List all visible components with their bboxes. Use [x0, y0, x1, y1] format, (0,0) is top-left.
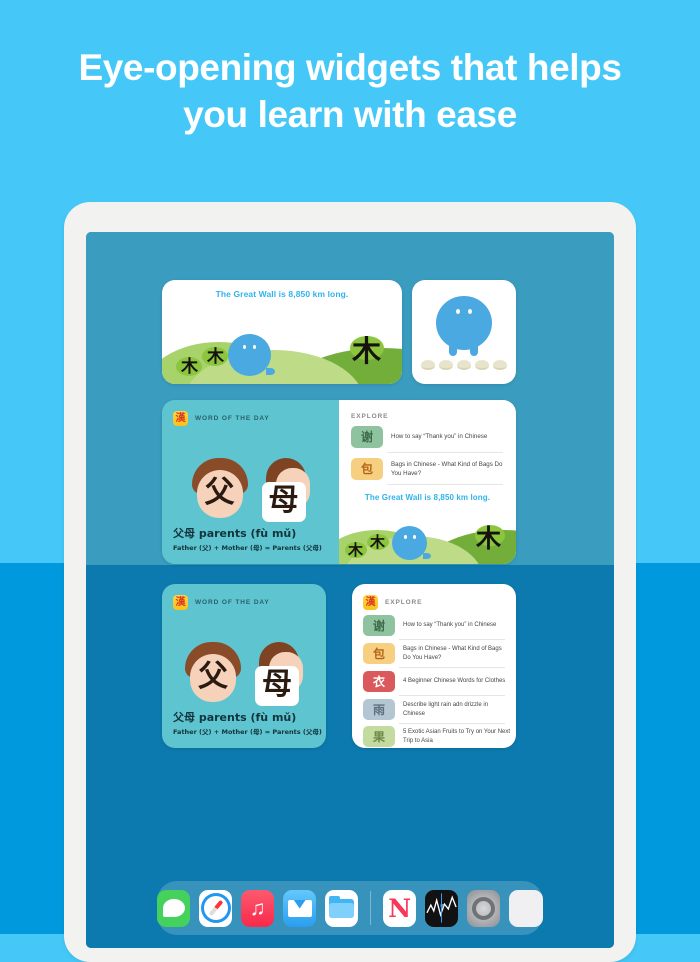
stocks-chart-glyph — [425, 891, 458, 925]
pet-foot-left — [449, 346, 457, 356]
explore-title-1: How to say “Thank you” in Chinese — [391, 432, 487, 441]
explore-thumb-2: 包 — [363, 643, 395, 664]
explore-header: 漢 EXPLORE — [363, 595, 422, 610]
widget-word-of-the-day[interactable]: 漢 WORD OF THE DAY 父 母 父母 parents (fù mǔ)… — [162, 584, 326, 748]
explore-thumb-1: 谢 — [363, 615, 395, 636]
explore-item[interactable]: 衣 4 Beginner Chinese Words for Clothes — [363, 671, 509, 692]
combo-scene-illustration: 木 木 木 — [339, 512, 516, 564]
widget-combo[interactable]: 漢 WORD OF THE DAY 父 母 父母 parents (fù mǔ)… — [162, 400, 516, 564]
word-of-the-day-breakdown: Father (父) + Mother (母) = Parents (父母) — [173, 726, 322, 736]
word-of-the-day-header: 漢 WORD OF THE DAY — [173, 411, 270, 426]
pet-foot-right — [470, 346, 478, 356]
tree-glyph-1: 木 — [181, 359, 198, 376]
combo-explore-pane[interactable]: EXPLORE 谢 How to say “Thank you” in Chin… — [339, 400, 516, 564]
explore-title-5: 5 Exotic Asian Fruits to Try on Your Nex… — [403, 728, 511, 745]
widget-scene-fact[interactable]: The Great Wall is 8,850 km long. 木 木 木 — [162, 280, 402, 384]
word-of-the-day-term: 父母 parents (fù mǔ) — [173, 525, 296, 541]
mother-face: 母 — [260, 458, 310, 520]
widget-explore[interactable]: 漢 EXPLORE 谢 How to say “Thank you” in Ch… — [352, 584, 516, 748]
tablet-device: The Great Wall is 8,850 km long. 木 木 木 — [64, 202, 636, 962]
explore-divider — [387, 452, 503, 453]
word-of-the-day-breakdown: Father (父) + Mother (母) = Parents (父母) — [173, 542, 322, 552]
safari-icon[interactable] — [199, 890, 232, 927]
mother-glyph: 母 — [262, 482, 306, 520]
app-folder-icon[interactable] — [509, 890, 543, 927]
word-of-the-day-term: 父母 parents (fù mǔ) — [173, 709, 296, 725]
mother-face: 母 — [253, 642, 303, 704]
explore-divider — [399, 695, 505, 696]
explore-item[interactable]: 果 5 Exotic Asian Fruits to Try on Your N… — [363, 726, 511, 747]
dock-separator — [370, 891, 371, 925]
blob-character — [228, 334, 271, 376]
father-face: 父 — [192, 458, 250, 520]
explore-divider — [399, 667, 505, 668]
music-icon[interactable]: ♫ — [241, 890, 274, 927]
headline-line-1: Eye-opening widgets that helps — [0, 44, 700, 91]
explore-label: EXPLORE — [351, 413, 388, 420]
parents-illustration: 父 母 — [162, 624, 326, 704]
explore-app-icon: 漢 — [363, 595, 378, 610]
explore-thumb-3: 衣 — [363, 671, 395, 692]
explore-title-4: Describe light rain adn drizzle in Chine… — [403, 701, 509, 718]
stocks-icon[interactable] — [425, 890, 458, 927]
explore-item[interactable]: 谢 How to say “Thank you” in Chinese — [351, 426, 503, 448]
scene-illustration: 木 木 木 — [162, 316, 402, 384]
word-of-the-day-header: 漢 WORD OF THE DAY — [173, 595, 270, 610]
explore-item[interactable]: 包 Bags in Chinese - What Kind of Bags Do… — [351, 458, 503, 480]
pet-body — [436, 296, 492, 350]
dock: ♫ N — [157, 881, 543, 935]
explore-item[interactable]: 包 Bags in Chinese - What Kind of Bags Do… — [363, 643, 509, 664]
scene-caption: The Great Wall is 8,850 km long. — [162, 289, 402, 299]
explore-title-2: Bags in Chinese - What Kind of Bags Do Y… — [403, 645, 509, 662]
headline-line-2: you learn with ease — [0, 91, 700, 138]
explore-thumb-1: 谢 — [351, 426, 383, 448]
father-face: 父 — [185, 642, 243, 704]
explore-title-1: How to say “Thank you” in Chinese — [403, 621, 496, 630]
news-icon[interactable]: N — [383, 890, 416, 927]
explore-thumb-4: 雨 — [363, 699, 395, 720]
combo-tree-3: 木 — [476, 526, 501, 551]
explore-thumb-2: 包 — [351, 458, 383, 480]
tree-glyph-2: 木 — [207, 349, 224, 366]
settings-icon[interactable] — [467, 890, 500, 927]
explore-item[interactable]: 雨 Describe light rain adn drizzle in Chi… — [363, 699, 509, 720]
combo-tree-1: 木 — [348, 543, 363, 558]
explore-item[interactable]: 谢 How to say “Thank you” in Chinese — [363, 615, 509, 636]
explore-divider — [399, 639, 505, 640]
blob-tail — [266, 368, 275, 375]
tree-glyph-3: 木 — [352, 337, 381, 366]
combo-scene-caption: The Great Wall is 8,850 km long. — [339, 493, 516, 502]
tablet-screen: The Great Wall is 8,850 km long. 木 木 木 — [86, 232, 614, 948]
explore-divider — [387, 484, 503, 485]
mother-glyph: 母 — [255, 666, 299, 704]
parents-illustration: 父 母 — [162, 440, 339, 520]
page-title: Eye-opening widgets that helps you learn… — [0, 44, 700, 139]
messages-icon[interactable] — [157, 890, 190, 927]
explore-divider — [399, 723, 505, 724]
files-icon[interactable] — [325, 890, 358, 927]
combo-tree-2: 木 — [370, 535, 385, 550]
combo-word-of-the-day-pane[interactable]: 漢 WORD OF THE DAY 父 母 父母 parents (fù mǔ)… — [162, 400, 339, 564]
widget-pet[interactable] — [412, 280, 516, 384]
explore-thumb-5: 果 — [363, 726, 395, 747]
father-glyph: 父 — [190, 662, 236, 692]
explore-title-2: Bags in Chinese - What Kind of Bags Do Y… — [391, 460, 503, 479]
word-of-the-day-label: WORD OF THE DAY — [195, 415, 270, 422]
mail-icon[interactable] — [283, 890, 316, 927]
word-of-the-day-app-icon: 漢 — [173, 595, 188, 610]
word-of-the-day-app-icon: 漢 — [173, 411, 188, 426]
father-glyph: 父 — [197, 478, 243, 508]
explore-title-3: 4 Beginner Chinese Words for Clothes — [403, 677, 505, 686]
combo-blob — [392, 526, 427, 560]
word-of-the-day-label: WORD OF THE DAY — [195, 599, 270, 606]
explore-label: EXPLORE — [385, 599, 422, 606]
